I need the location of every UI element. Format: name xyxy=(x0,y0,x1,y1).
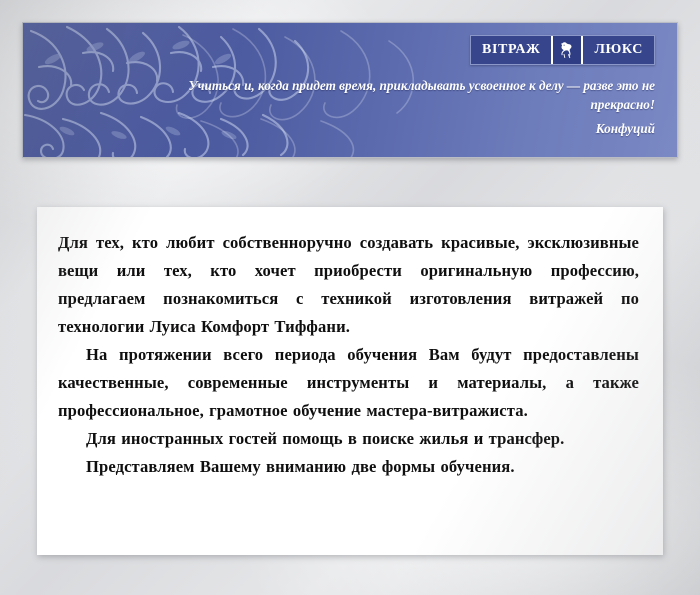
brand-logo[interactable]: ВІТРАЖ ЛЮКС xyxy=(470,35,655,65)
banner-quote: Учиться и, когда придет время, прикладыв… xyxy=(185,77,655,139)
logo-word-right: ЛЮКС xyxy=(583,36,654,64)
paragraph-forms: Представляем Вашему вниманию две формы о… xyxy=(58,453,639,481)
quote-author: Конфуций xyxy=(185,120,655,139)
rearing-horse-icon xyxy=(551,36,583,64)
content-card-body: Для тех, кто любит собственноручно созда… xyxy=(37,207,663,481)
quote-text: Учиться и, когда придет время, прикладыв… xyxy=(185,77,655,114)
logo-word-left: ВІТРАЖ xyxy=(471,36,551,64)
paragraph-intro: Для тех, кто любит собственноручно созда… xyxy=(58,229,639,341)
paragraph-foreign-guests: Для иностранных гостей помощь в поиске ж… xyxy=(58,425,639,453)
content-card: Для тех, кто любит собственноручно созда… xyxy=(37,207,663,555)
page-backdrop: ВІТРАЖ ЛЮКС Учиться и, когда придет врем… xyxy=(0,0,700,595)
paragraph-training: На протяжении всего периода обучения Вам… xyxy=(58,341,639,425)
header-banner: ВІТРАЖ ЛЮКС Учиться и, когда придет врем… xyxy=(22,22,678,158)
